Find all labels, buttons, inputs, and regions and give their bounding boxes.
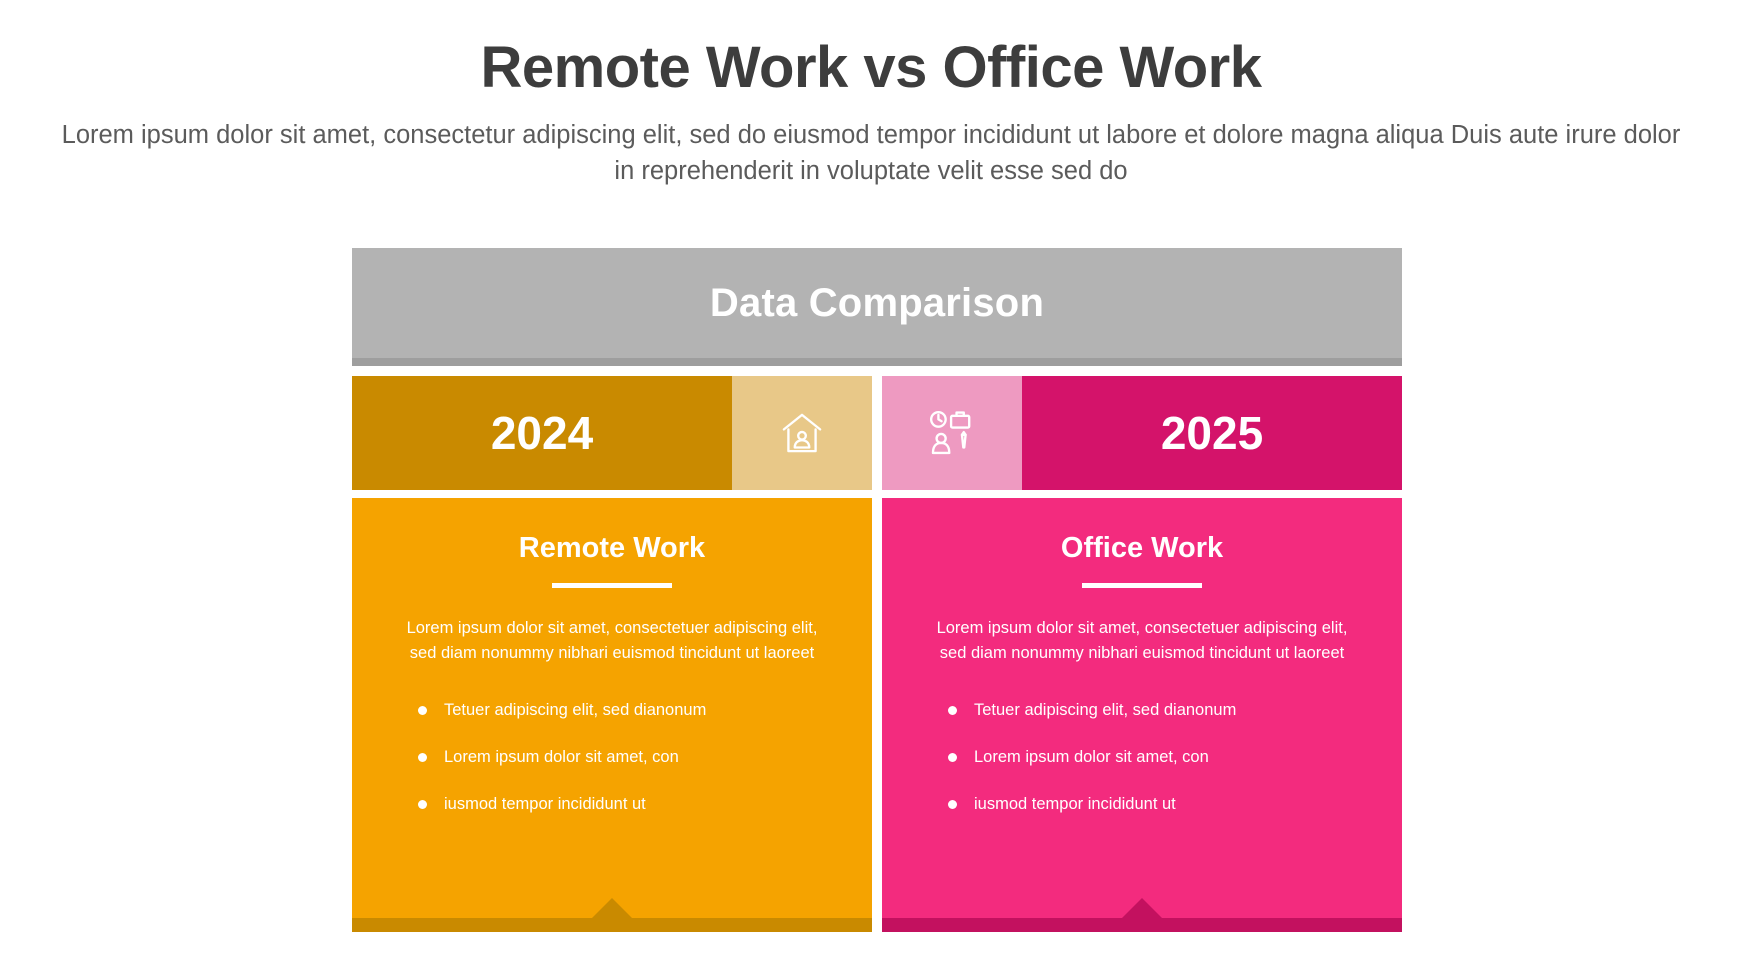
panel-remote-work: Remote Work Lorem ipsum dolor sit amet, … [352, 498, 872, 932]
bullet-dot-icon [948, 800, 957, 809]
bullet-dot-icon [418, 706, 427, 715]
title-divider-left [552, 583, 672, 588]
bullet-list-right: Tetuer adipiscing elit, sed dianonum Lor… [934, 700, 1350, 816]
year-right-group: 2025 [882, 376, 1402, 490]
year-left-group: 2024 [352, 376, 872, 490]
panel-office-work: Office Work Lorem ipsum dolor sit amet, … [882, 498, 1402, 932]
panel-title-right: Office Work [934, 532, 1350, 565]
banner-title: Data Comparison [710, 281, 1044, 326]
list-item-label: Tetuer adipiscing elit, sed dianonum [444, 701, 706, 719]
panel-body-right: Office Work Lorem ipsum dolor sit amet, … [882, 498, 1402, 918]
list-item: iusmod tempor incididunt ut [934, 794, 1350, 815]
list-item: Tetuer adipiscing elit, sed dianonum [404, 700, 820, 721]
pointer-arrow-icon [590, 898, 634, 920]
list-item-label: Lorem ipsum dolor sit amet, con [974, 748, 1209, 766]
panel-description-left: Lorem ipsum dolor sit amet, consectetuer… [404, 616, 820, 666]
comparison-block: Data Comparison 2024 [352, 248, 1402, 932]
page-subtitle: Lorem ipsum dolor sit amet, consectetur … [61, 117, 1681, 189]
list-item: Tetuer adipiscing elit, sed dianonum [934, 700, 1350, 721]
list-item-label: iusmod tempor incididunt ut [444, 795, 646, 813]
bullet-dot-icon [948, 753, 957, 762]
pointer-arrow-icon [1120, 898, 1164, 920]
year-label-left: 2024 [352, 376, 732, 490]
year-label-right: 2025 [1022, 376, 1402, 490]
page-title: Remote Work vs Office Work [0, 38, 1742, 99]
header: Remote Work vs Office Work Lorem ipsum d… [0, 0, 1742, 189]
panel-foot-left [352, 918, 872, 932]
bullet-dot-icon [418, 800, 427, 809]
list-item: iusmod tempor incididunt ut [404, 794, 820, 815]
panel-title-left: Remote Work [404, 532, 820, 565]
bullet-dot-icon [418, 753, 427, 762]
content-row: Remote Work Lorem ipsum dolor sit amet, … [352, 498, 1402, 932]
panel-foot-right [882, 918, 1402, 932]
list-item: Lorem ipsum dolor sit amet, con [404, 747, 820, 768]
list-item-label: Lorem ipsum dolor sit amet, con [444, 748, 679, 766]
home-office-icon [732, 376, 872, 490]
banner: Data Comparison [352, 248, 1402, 358]
bullet-dot-icon [948, 706, 957, 715]
list-item-label: iusmod tempor incididunt ut [974, 795, 1176, 813]
banner-shadow [352, 358, 1402, 366]
year-row: 2024 [352, 376, 1402, 490]
list-item: Lorem ipsum dolor sit amet, con [934, 747, 1350, 768]
office-worker-icon [882, 376, 1022, 490]
bullet-list-left: Tetuer adipiscing elit, sed dianonum Lor… [404, 700, 820, 816]
infographic-page: Remote Work vs Office Work Lorem ipsum d… [0, 0, 1742, 980]
list-item-label: Tetuer adipiscing elit, sed dianonum [974, 701, 1236, 719]
title-divider-right [1082, 583, 1202, 588]
panel-body-left: Remote Work Lorem ipsum dolor sit amet, … [352, 498, 872, 918]
panel-description-right: Lorem ipsum dolor sit amet, consectetuer… [934, 616, 1350, 666]
